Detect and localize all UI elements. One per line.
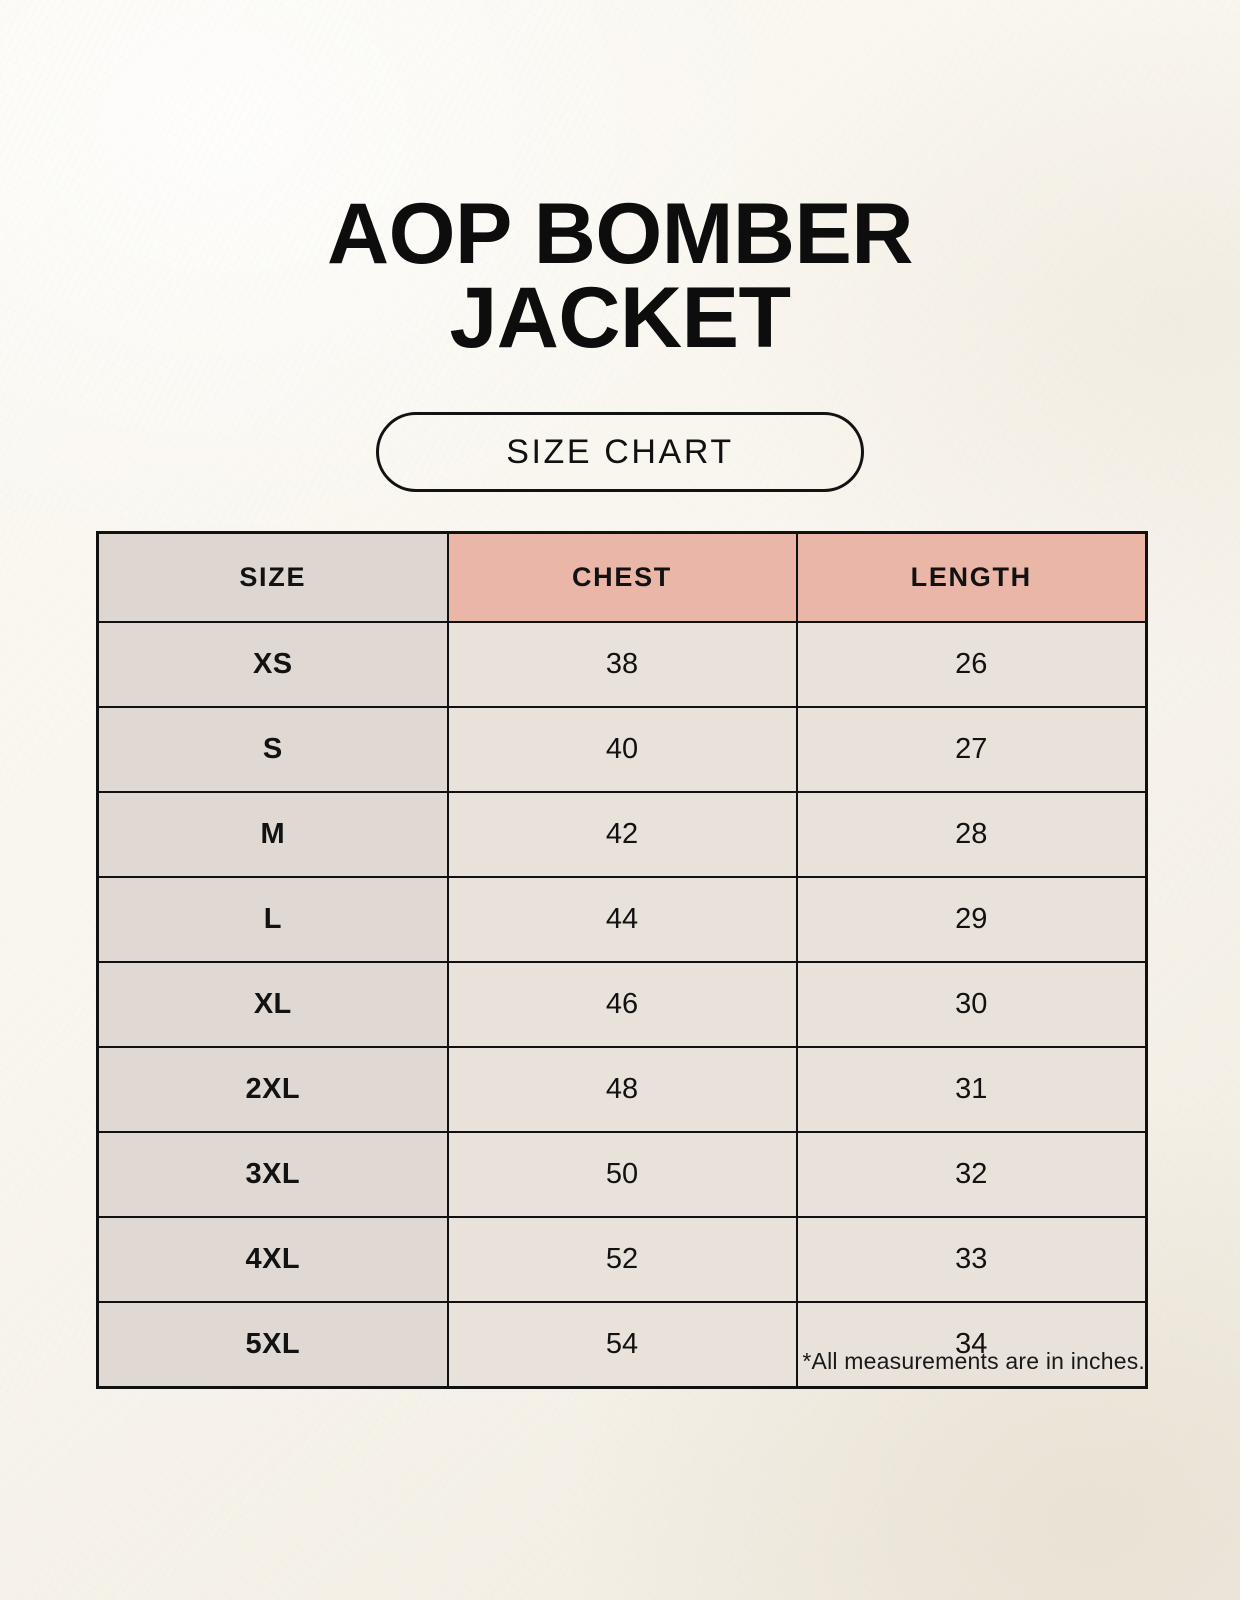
size-chart-badge-container: SIZE CHART bbox=[0, 412, 1240, 492]
column-header-size: SIZE bbox=[98, 533, 448, 623]
column-header-chest: CHEST bbox=[448, 533, 797, 623]
cell-length: 32 bbox=[797, 1132, 1147, 1217]
cell-chest: 52 bbox=[448, 1217, 797, 1302]
cell-chest: 42 bbox=[448, 792, 797, 877]
cell-length: 33 bbox=[797, 1217, 1147, 1302]
page-title: AOP BOMBER JACKET bbox=[0, 192, 1240, 361]
cell-size: 4XL bbox=[98, 1217, 448, 1302]
cell-size: 2XL bbox=[98, 1047, 448, 1132]
cell-chest: 40 bbox=[448, 707, 797, 792]
measurement-units-footnote: *All measurements are in inches. bbox=[96, 1348, 1145, 1375]
column-header-length: LENGTH bbox=[797, 533, 1147, 623]
cell-length: 26 bbox=[797, 622, 1147, 707]
cell-chest: 50 bbox=[448, 1132, 797, 1217]
cell-size: L bbox=[98, 877, 448, 962]
cell-size: S bbox=[98, 707, 448, 792]
size-chart-badge: SIZE CHART bbox=[376, 412, 864, 492]
table-body: XS 38 26 S 40 27 M 42 28 L bbox=[98, 622, 1147, 1388]
cell-length: 29 bbox=[797, 877, 1147, 962]
cell-size: XL bbox=[98, 962, 448, 1047]
table-header: SIZE CHEST LENGTH bbox=[98, 533, 1147, 623]
size-chart-page: AOP BOMBER JACKET SIZE CHART SIZE CHEST … bbox=[0, 0, 1240, 1600]
cell-size: M bbox=[98, 792, 448, 877]
cell-size: XS bbox=[98, 622, 448, 707]
cell-length: 30 bbox=[797, 962, 1147, 1047]
table-row: L 44 29 bbox=[98, 877, 1147, 962]
table-header-row: SIZE CHEST LENGTH bbox=[98, 533, 1147, 623]
size-chart-table-container: SIZE CHEST LENGTH XS 38 26 S 40 27 bbox=[96, 531, 1145, 1389]
table-row: XL 46 30 bbox=[98, 962, 1147, 1047]
cell-chest: 46 bbox=[448, 962, 797, 1047]
cell-chest: 48 bbox=[448, 1047, 797, 1132]
table-row: 3XL 50 32 bbox=[98, 1132, 1147, 1217]
size-chart-table: SIZE CHEST LENGTH XS 38 26 S 40 27 bbox=[96, 531, 1148, 1389]
table-row: 2XL 48 31 bbox=[98, 1047, 1147, 1132]
table-row: 4XL 52 33 bbox=[98, 1217, 1147, 1302]
cell-length: 31 bbox=[797, 1047, 1147, 1132]
table-row: S 40 27 bbox=[98, 707, 1147, 792]
page-title-line-2: JACKET bbox=[120, 276, 1120, 360]
table-row: M 42 28 bbox=[98, 792, 1147, 877]
page-title-line-1: AOP BOMBER bbox=[120, 192, 1120, 276]
table-row: XS 38 26 bbox=[98, 622, 1147, 707]
cell-length: 27 bbox=[797, 707, 1147, 792]
cell-size: 3XL bbox=[98, 1132, 448, 1217]
cell-chest: 38 bbox=[448, 622, 797, 707]
cell-length: 28 bbox=[797, 792, 1147, 877]
cell-chest: 44 bbox=[448, 877, 797, 962]
